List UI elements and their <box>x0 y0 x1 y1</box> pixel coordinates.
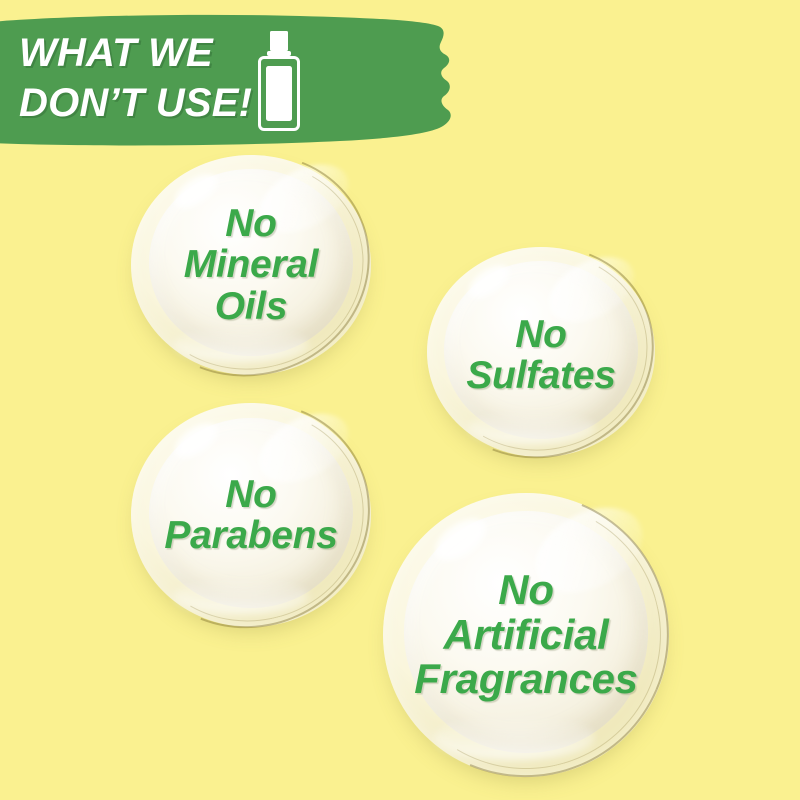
poster-canvas: WHAT WE DON’T USE! NoMineralOils <box>0 0 800 800</box>
bubble-label: NoArtificialFragrances <box>383 493 669 777</box>
bubble-parabens[interactable]: NoParabens <box>131 403 371 627</box>
header-banner: WHAT WE DON’T USE! <box>0 0 470 160</box>
bubble-label: NoMineralOils <box>131 155 371 375</box>
bubble-label: NoParabens <box>131 403 371 627</box>
bottle-icon <box>253 30 305 132</box>
bubble-label: NoSulfates <box>427 247 655 457</box>
bubble-mineral-oils[interactable]: NoMineralOils <box>131 155 371 375</box>
banner-content: WHAT WE DON’T USE! <box>0 0 470 160</box>
banner-headline-line2: DON’T USE! <box>19 82 252 124</box>
bubble-sulfates[interactable]: NoSulfates <box>427 247 655 457</box>
banner-headline-line1: WHAT WE <box>19 32 213 74</box>
bubble-artificial-fragrances[interactable]: NoArtificialFragrances <box>383 493 669 777</box>
